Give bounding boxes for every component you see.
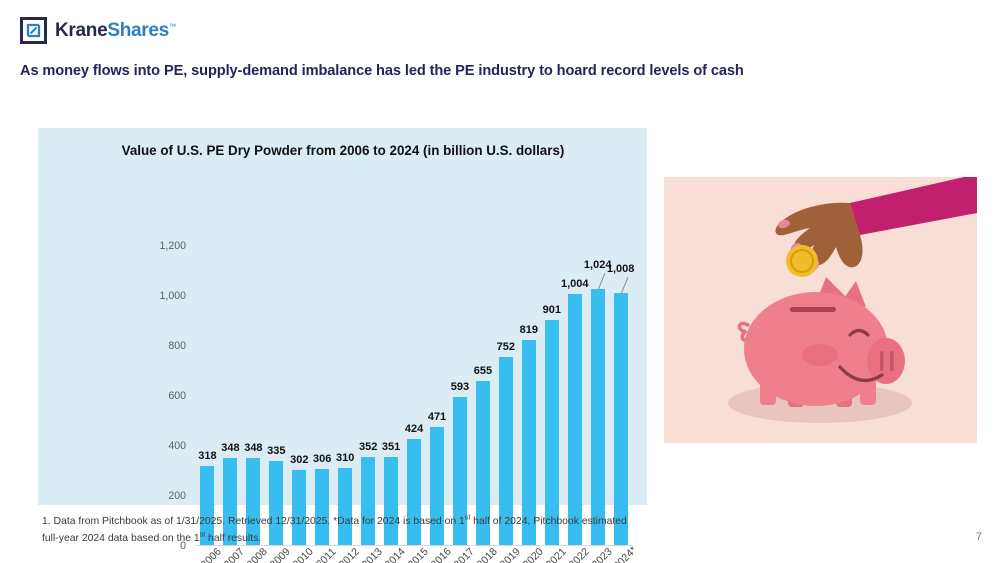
x-axis-tick-slot: 2014: [380, 550, 403, 563]
logo-shares-text: Shares: [107, 20, 169, 41]
bar-group[interactable]: 348: [242, 246, 265, 545]
footnote-line-2b: half results.: [205, 533, 261, 544]
page-title: As money flows into PE, supply-demand im…: [20, 63, 744, 79]
kraneshares-square-icon: [20, 17, 47, 44]
label-leader-line: [598, 273, 605, 289]
x-axis-tick-slot: 2006: [196, 550, 219, 563]
y-axis-tick: 1,200: [120, 240, 186, 252]
footnote: 1. Data from Pitchbook as of 1/31/2025. …: [42, 514, 642, 547]
bar-group[interactable]: 471: [426, 246, 449, 545]
x-axis-tick-slot: 2016: [426, 550, 449, 563]
x-axis-tick-slot: 2022: [563, 550, 586, 563]
bar-group[interactable]: 318: [196, 246, 219, 545]
y-axis-tick: 400: [120, 440, 186, 452]
slide: KraneShares™ As money flows into PE, sup…: [0, 0, 1000, 563]
plot-area: 3183483483353023063103523514244715936557…: [196, 246, 632, 546]
bar[interactable]: [545, 320, 559, 545]
bar-group[interactable]: 310: [334, 246, 357, 545]
bar-value-label: 901: [543, 304, 561, 316]
bar-value-label: 302: [290, 454, 308, 466]
y-axis: 02004006008001,0001,200: [116, 246, 186, 546]
y-axis-tick: 800: [120, 340, 186, 352]
footnote-line-1b: half of 2024,: [470, 516, 530, 527]
x-axis-tick-slot: 2023: [586, 550, 609, 563]
x-axis-tick-slot: 2008: [242, 550, 265, 563]
x-axis-tick-slot: 2011: [311, 550, 334, 563]
bar[interactable]: [568, 294, 582, 545]
footnote-line-1a: 1. Data from Pitchbook as of 1/31/2025. …: [42, 516, 465, 527]
trademark-icon: ™: [169, 23, 176, 30]
bar-value-label: 351: [382, 441, 400, 453]
x-axis-tick-slot: 2021: [540, 550, 563, 563]
page-number: 7: [976, 531, 982, 543]
x-axis-tick-slot: 2013: [357, 550, 380, 563]
x-axis-tick-slot: 2007: [219, 550, 242, 563]
bar-group[interactable]: 1,024: [586, 246, 609, 545]
bar-value-label: 348: [221, 442, 239, 454]
bar-group[interactable]: 901: [540, 246, 563, 545]
bar-value-label: 424: [405, 423, 423, 435]
bar[interactable]: [591, 289, 605, 545]
bar-value-label: 655: [474, 365, 492, 377]
piggy-bank-illustration: [664, 177, 977, 443]
bar-value-label: 352: [359, 441, 377, 453]
logo-krane-text: Krane: [55, 20, 107, 41]
bar-group[interactable]: 1,004: [563, 246, 586, 545]
bar-value-label: 318: [198, 450, 216, 462]
bar-group[interactable]: 424: [403, 246, 426, 545]
kraneshares-logo: KraneShares™: [20, 17, 176, 44]
bar-value-label: 335: [267, 445, 285, 457]
x-axis-tick-slot: 2015: [403, 550, 426, 563]
bar-group[interactable]: 593: [448, 246, 471, 545]
x-axis-tick-slot: 2010: [288, 550, 311, 563]
bar-group[interactable]: 819: [517, 246, 540, 545]
chart-title: Value of U.S. PE Dry Powder from 2006 to…: [98, 141, 588, 160]
y-axis-tick: 200: [120, 490, 186, 502]
bar-group[interactable]: 352: [357, 246, 380, 545]
bar-series: 3183483483353023063103523514244715936557…: [196, 246, 632, 545]
bar-value-label: 348: [244, 442, 262, 454]
bar-group[interactable]: 1,008: [609, 246, 632, 545]
bar-group[interactable]: 302: [288, 246, 311, 545]
label-leader-line: [621, 277, 628, 293]
bar-value-label: 471: [428, 411, 446, 423]
logo-wordmark: KraneShares™: [55, 20, 176, 42]
bar-group[interactable]: 348: [219, 246, 242, 545]
bar-value-label: 593: [451, 381, 469, 393]
x-axis-tick-slot: 2009: [265, 550, 288, 563]
x-axis-tick-slot: 2020: [517, 550, 540, 563]
bar-group[interactable]: 351: [380, 246, 403, 545]
x-axis-tick-slot: 2024*: [609, 550, 632, 563]
x-axis-tick-slot: 2012: [334, 550, 357, 563]
bar[interactable]: [614, 293, 628, 545]
bar-value-label: 310: [336, 452, 354, 464]
y-axis-tick: 1,000: [120, 290, 186, 302]
bar-value-label: 819: [520, 324, 538, 336]
x-axis-tick-slot: 2019: [494, 550, 517, 563]
chart-panel: Value of U.S. PE Dry Powder from 2006 to…: [38, 128, 647, 505]
x-axis-tick-slot: 2018: [471, 550, 494, 563]
chart-plot: 02004006008001,0001,200 3183483483353023…: [116, 188, 640, 563]
x-axis: 2006200720082009201020112012201320142015…: [196, 550, 632, 563]
bar-value-label: 1,008: [607, 263, 635, 275]
y-axis-tick: 600: [120, 390, 186, 402]
bar-group[interactable]: 752: [494, 246, 517, 545]
bar-value-label: 752: [497, 341, 515, 353]
bar-value-label: 1,004: [561, 278, 589, 290]
bar-value-label: 306: [313, 453, 331, 465]
bar-group[interactable]: 335: [265, 246, 288, 545]
x-axis-tick-slot: 2017: [448, 550, 471, 563]
bar-group[interactable]: 655: [471, 246, 494, 545]
footnote-line-1: 1. Data from Pitchbook as of 1/31/2025. …: [42, 516, 530, 527]
bar-group[interactable]: 306: [311, 246, 334, 545]
